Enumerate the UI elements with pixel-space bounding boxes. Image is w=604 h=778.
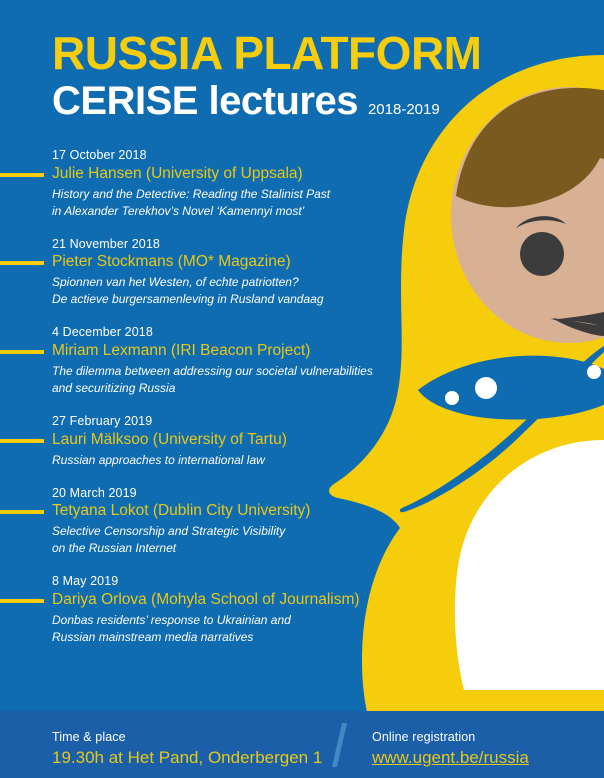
- lecture-description-line: Spionnen van het Westen, of echte patrio…: [0, 274, 400, 291]
- lecture-speaker-row: Tetyana Lokot (Dublin City University): [0, 501, 400, 523]
- poster-footer: Time & place 19.30h at Het Pand, Onderbe…: [0, 711, 604, 778]
- footer-time-place-block: Time & place 19.30h at Het Pand, Onderbe…: [52, 729, 322, 770]
- lecture-date: 21 November 2018: [0, 237, 400, 253]
- lecture-date: 20 March 2019: [0, 486, 400, 502]
- lecture-date: 17 October 2018: [0, 148, 400, 164]
- bullet-dash-icon: [0, 350, 44, 354]
- bullet-dash-icon: [0, 599, 44, 603]
- lecture-date: 8 May 2019: [0, 574, 400, 590]
- lecture-speaker: Dariya Orlova (Mohyla School of Journali…: [52, 590, 360, 611]
- lecture-description-line: Russian mainstream media narratives: [0, 629, 400, 646]
- lecture-date: 4 December 2018: [0, 325, 400, 341]
- lecture-speaker-row: Dariya Orlova (Mohyla School of Journali…: [0, 590, 400, 612]
- bullet-dash-icon: [0, 510, 44, 514]
- lecture-description-line: The dilemma between addressing our socie…: [0, 363, 400, 380]
- lecture-description-line: Donbas residents’ response to Ukrainian …: [0, 612, 400, 629]
- lecture-speaker: Miriam Lexmann (IRI Beacon Project): [52, 341, 310, 362]
- lecture-item: 17 October 2018 Julie Hansen (University…: [0, 148, 400, 220]
- lecture-description-line: History and the Detective: Reading the S…: [0, 186, 400, 203]
- lecture-description-line: in Alexander Terekhov’s Novel ‘Kamennyi …: [0, 203, 400, 220]
- lecture-speaker-row: Miriam Lexmann (IRI Beacon Project): [0, 341, 400, 363]
- doll-eye: [520, 232, 564, 276]
- doll-leaf-motif: [400, 346, 604, 513]
- footer-slash-divider: [332, 723, 347, 767]
- lecture-item: 8 May 2019 Dariya Orlova (Mohyla School …: [0, 574, 400, 646]
- subtitle-row: CERISE lectures 2018-2019: [52, 81, 481, 121]
- page-subtitle: CERISE lectures: [52, 81, 358, 121]
- doll-apron: [455, 440, 604, 690]
- doll-smile: [550, 312, 604, 336]
- lecture-item: 20 March 2019 Tetyana Lokot (Dublin City…: [0, 486, 400, 558]
- doll-eyebrow: [516, 216, 566, 228]
- lecture-speaker: Tetyana Lokot (Dublin City University): [52, 501, 310, 522]
- poster-header: RUSSIA PLATFORM CERISE lectures 2018-201…: [52, 30, 481, 121]
- lecture-item: 27 February 2019 Lauri Mälksoo (Universi…: [0, 414, 400, 469]
- page-title: RUSSIA PLATFORM: [52, 30, 481, 76]
- lecture-speaker: Julie Hansen (University of Uppsala): [52, 164, 303, 185]
- lecture-description-line: and securitizing Russia: [0, 380, 400, 397]
- lecture-speaker-row: Julie Hansen (University of Uppsala): [0, 164, 400, 186]
- lecture-description-line: Russian approaches to international law: [0, 452, 400, 469]
- lecture-date: 27 February 2019: [0, 414, 400, 430]
- registration-label: Online registration: [372, 729, 529, 745]
- time-place-label: Time & place: [52, 729, 322, 745]
- lecture-speaker-row: Lauri Mälksoo (University of Tartu): [0, 430, 400, 452]
- academic-year-label: 2018-2019: [368, 101, 440, 118]
- lecture-item: 21 November 2018 Pieter Stockmans (MO* M…: [0, 237, 400, 309]
- time-place-value: 19.30h at Het Pand, Onderbergen 1: [52, 747, 322, 770]
- lecture-speaker: Pieter Stockmans (MO* Magazine): [52, 252, 291, 273]
- bullet-dash-icon: [0, 439, 44, 443]
- poster-canvas: RUSSIA PLATFORM CERISE lectures 2018-201…: [0, 0, 604, 778]
- doll-face: [451, 87, 604, 343]
- lecture-list: 17 October 2018 Julie Hansen (University…: [0, 148, 400, 663]
- bullet-dash-icon: [0, 173, 44, 177]
- lecture-item: 4 December 2018 Miriam Lexmann (IRI Beac…: [0, 325, 400, 397]
- lecture-description-line: De actieve burgersamenleving in Rusland …: [0, 291, 400, 308]
- footer-registration-block: Online registration www.ugent.be/russia: [372, 729, 529, 770]
- lecture-speaker: Lauri Mälksoo (University of Tartu): [52, 430, 287, 451]
- lecture-speaker-row: Pieter Stockmans (MO* Magazine): [0, 252, 400, 274]
- lecture-description-line: on the Russian Internet: [0, 540, 400, 557]
- bullet-dash-icon: [0, 261, 44, 265]
- registration-link[interactable]: www.ugent.be/russia: [372, 747, 529, 770]
- lecture-description-line: Selective Censorship and Strategic Visib…: [0, 523, 400, 540]
